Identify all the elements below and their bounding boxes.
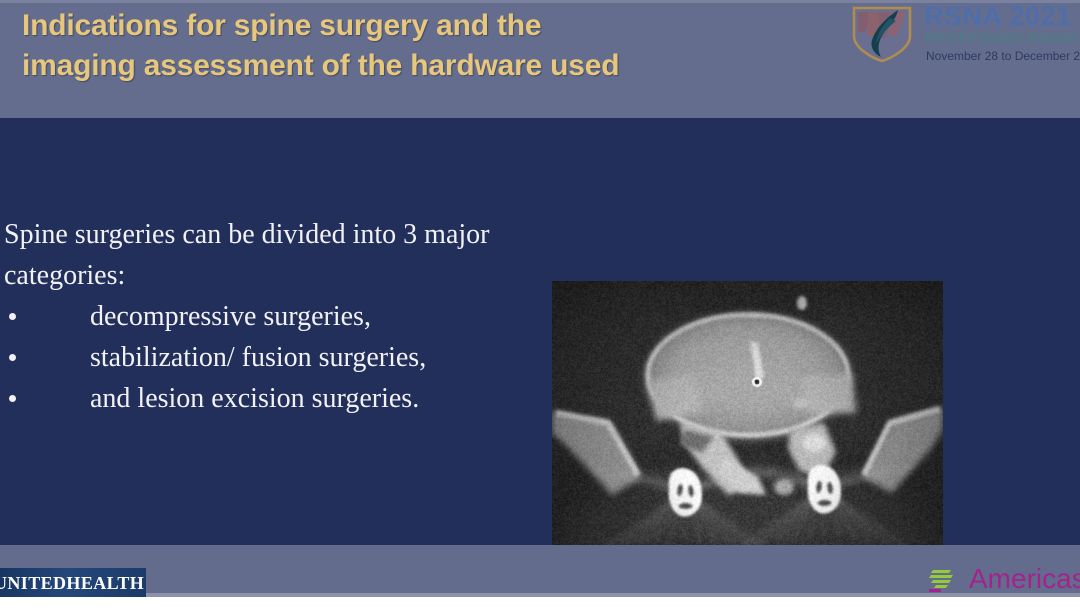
slide-header-band: Indications for spine surgery and the im… <box>0 0 1080 118</box>
rsna-tagline: REDEFINING RADIOLOGY <box>925 31 1080 46</box>
bullet-list: decompressive surgeries, stabilization/ … <box>4 296 544 419</box>
unitedhealth-group-logo: UNITEDHEALTH GROUP® <box>0 568 146 598</box>
rsna-wordmark: RSNA 2021 <box>924 3 1072 30</box>
bullet-text: stabilization/ fusion surgeries, <box>90 342 426 373</box>
list-item: decompressive surgeries, <box>4 296 544 337</box>
bullet-text: decompressive surgeries, <box>90 301 371 332</box>
americas-wordmark: Americas <box>969 562 1080 596</box>
bullet-dot-icon <box>9 313 16 320</box>
slide-body-text: Spine surgeries can be divided into 3 ma… <box>4 214 544 419</box>
rsna-conference-logo: RSNA 2021 REDEFINING RADIOLOGY November … <box>828 0 1080 80</box>
bullet-text: and lesion excision surgeries. <box>90 383 419 414</box>
bullet-dot-icon <box>9 354 16 361</box>
body-lead-text: Spine surgeries can be divided into 3 ma… <box>4 214 534 296</box>
list-item: and lesion excision surgeries. <box>4 378 544 419</box>
bullet-dot-icon <box>9 395 16 402</box>
list-item: stabilization/ fusion surgeries, <box>4 337 544 378</box>
bottom-white-strip <box>0 597 1080 608</box>
slide-body-panel: Spine surgeries can be divided into 3 ma… <box>0 118 1080 545</box>
rsna-dates: November 28 to December 2 <box>926 50 1080 63</box>
slide-footer-band <box>0 545 1080 597</box>
rsna-shield-icon <box>846 2 920 64</box>
americas-leaf-icon <box>927 566 959 592</box>
unitedhealth-group-wordmark: UNITEDHEALTH GROUP® <box>0 574 146 592</box>
slide-title: Indications for spine surgery and the im… <box>22 6 722 86</box>
presentation-slide: Indications for spine surgery and the im… <box>0 0 1080 608</box>
americas-logo: Americas <box>925 562 1080 597</box>
